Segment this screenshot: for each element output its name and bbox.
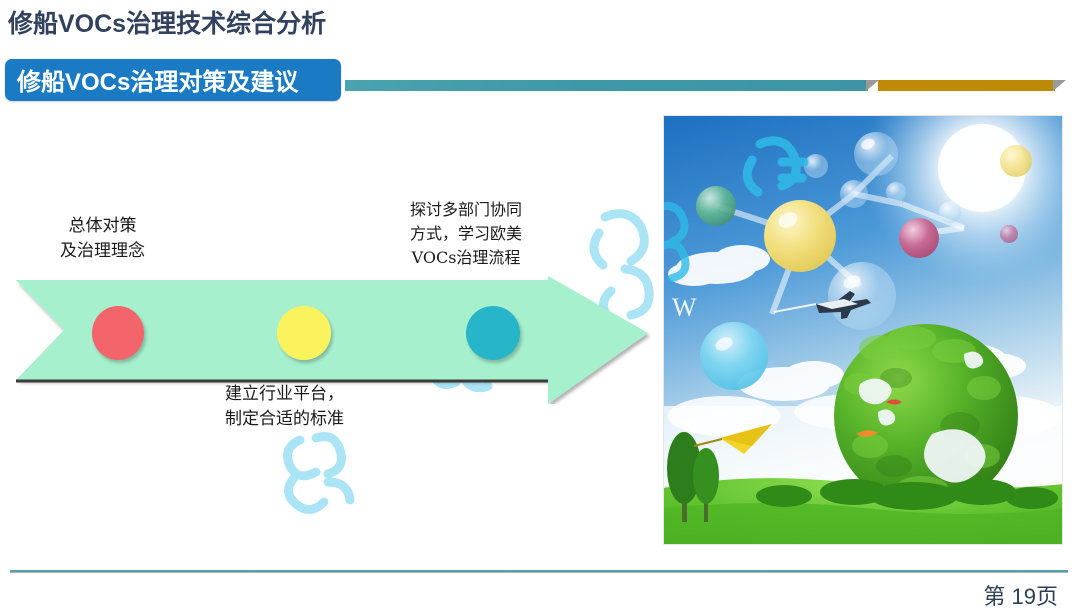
milestone-dot-3 xyxy=(466,306,520,360)
caption-multi-department: 探讨多部门协同 方式，学习欧美 VOCs治理流程 xyxy=(410,198,522,270)
caption-line: 建立行业平台， xyxy=(225,382,344,407)
caption-line: 及治理理念 xyxy=(60,239,145,264)
caption-industry-platform: 建立行业平台， 制定合适的标准 xyxy=(225,382,344,432)
header-accent-bar-teal xyxy=(345,80,868,91)
caption-line: 制定合适的标准 xyxy=(225,407,344,432)
svg-text:W: W xyxy=(672,293,697,322)
milestone-dot-1 xyxy=(92,306,144,360)
watermark-doodle xyxy=(270,420,390,530)
caption-line: 探讨多部门协同 xyxy=(410,198,522,222)
page-title: 修船VOCs治理技术综合分析 xyxy=(8,4,326,40)
header-accent-bar-gold-tip xyxy=(1053,80,1066,91)
slide: 修船VOCs治理技术综合分析 修船VOCs治理对策及建议 xyxy=(0,0,1080,608)
footer-divider xyxy=(10,570,1068,573)
page-number: 第 19页 xyxy=(983,579,1058,611)
caption-line: VOCs治理流程 xyxy=(410,246,522,270)
eco-globe-photo: W xyxy=(663,115,1063,545)
caption-line: 方式，学习欧美 xyxy=(410,222,522,246)
caption-line: 总体对策 xyxy=(60,214,145,239)
header-accent-bar-gold xyxy=(878,80,1055,91)
section-banner: 修船VOCs治理对策及建议 xyxy=(5,59,341,101)
section-banner-label: 修船VOCs治理对策及建议 xyxy=(17,62,298,97)
caption-overall-strategy: 总体对策 及治理理念 xyxy=(60,214,145,264)
milestone-dot-2 xyxy=(277,306,331,360)
